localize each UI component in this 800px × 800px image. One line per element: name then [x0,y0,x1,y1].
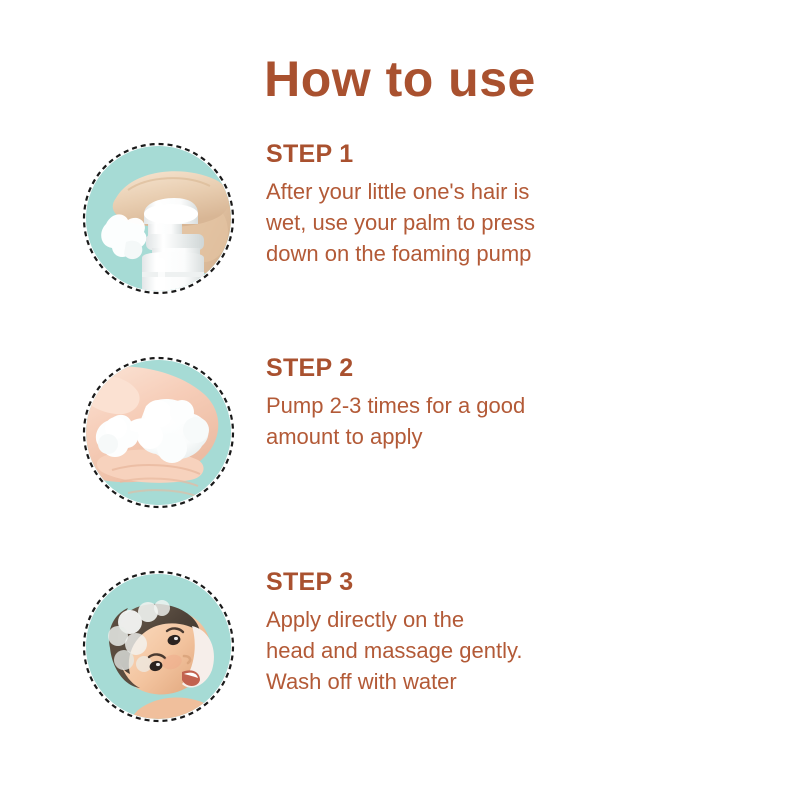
steps-list: STEP 1 After your little one's hair is w… [0,140,800,782]
step-1-heading: STEP 1 [266,140,596,170]
step-3-text: STEP 3 Apply directly on the head and ma… [266,568,596,697]
step-2-body: Pump 2-3 times for a good amount to appl… [266,390,596,452]
step-2-image [86,360,231,505]
step-item: STEP 2 Pump 2-3 times for a good amount … [0,354,800,568]
step-3-heading: STEP 3 [266,568,596,598]
page-title: How to use [0,52,800,107]
step-2-heading: STEP 2 [266,354,596,384]
step-item: STEP 1 After your little one's hair is w… [0,140,800,354]
baby-washing-hair-photo [86,574,231,719]
how-to-use-panel: How to use [0,0,800,800]
step-1-image [86,146,231,291]
foam-in-palm-photo [86,360,231,505]
step-item: STEP 3 Apply directly on the head and ma… [0,568,800,782]
step-3-body: Apply directly on the head and massage g… [266,604,596,698]
step-3-image [86,574,231,719]
pump-photo [86,146,231,291]
step-2-text: STEP 2 Pump 2-3 times for a good amount … [266,354,596,452]
step-1-text: STEP 1 After your little one's hair is w… [266,140,596,269]
step-1-body: After your little one's hair is wet, use… [266,176,596,270]
